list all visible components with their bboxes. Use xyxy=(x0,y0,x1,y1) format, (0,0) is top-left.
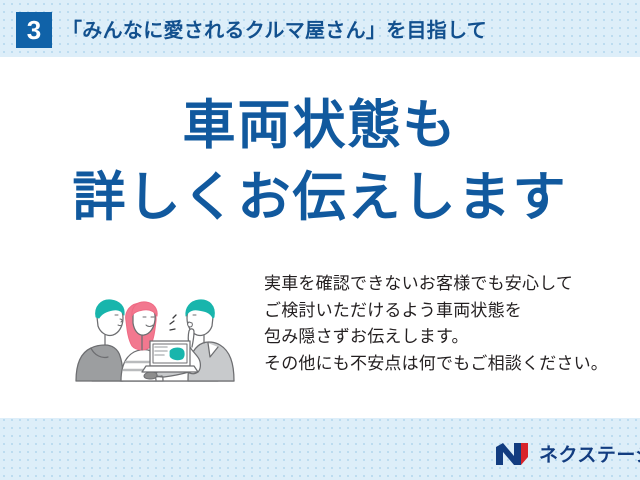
brand-name-text: ネクステージ xyxy=(539,440,640,467)
body-copy: 実車を確認できないお客様でも安心して ご検討いただけるよう車両状態を 包み隠さず… xyxy=(264,271,624,377)
consultation-illustration-svg xyxy=(58,277,248,395)
banner-header: 3 「みんなに愛されるクルマ屋さん」を目指して xyxy=(0,0,640,57)
headline-line-2: 詳しくお伝えします xyxy=(0,169,640,227)
promo-banner: 3 「みんなに愛されるクルマ屋さん」を目指して 車両状態も 詳しくお伝えします xyxy=(0,0,640,480)
brand-logo: ネクステージ xyxy=(494,440,640,467)
lower-block: 実車を確認できないお客様でも安心して ご検討いただけるよう車両状態を 包み隠さず… xyxy=(0,269,640,409)
body-copy-line: 実車を確認できないお客様でも安心して xyxy=(264,271,624,298)
banner-header-title: 「みんなに愛されるクルマ屋さん」を目指して xyxy=(62,14,487,43)
body-copy-line: その他にも不安点は何でもご相談ください。 xyxy=(264,351,624,378)
nextage-n-logo-icon xyxy=(494,441,532,467)
section-number-badge: 3 xyxy=(16,12,52,48)
body-copy-line: 包み隠さずお伝えします。 xyxy=(264,324,624,351)
consultation-illustration xyxy=(58,277,248,395)
body-copy-line: ご検討いただけるよう車両状態を xyxy=(264,298,624,325)
content-card: 車両状態も 詳しくお伝えします xyxy=(0,57,640,418)
headline-line-1: 車両状態も xyxy=(0,97,640,155)
